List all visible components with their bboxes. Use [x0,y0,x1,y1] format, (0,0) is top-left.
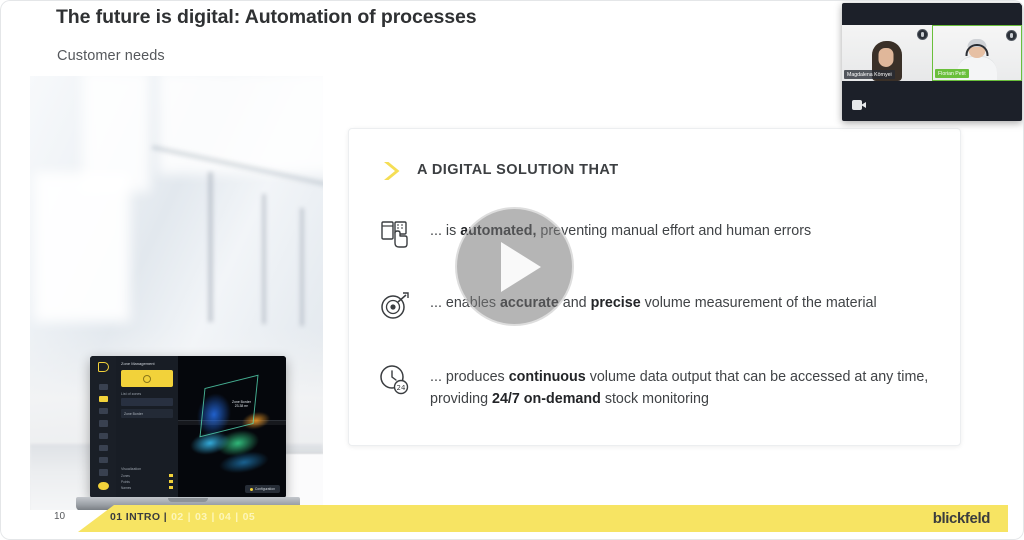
sidebar-icon [99,420,108,426]
window-mullion [300,208,304,326]
bullet-middle: preventing manual effort and human error… [536,223,811,239]
footer-section-nav: 01 INTRO | 02 | 03 | 04 | 05 [110,511,255,523]
app-legend-row: Zones [121,474,173,478]
window-pane [34,172,130,322]
video-controls-bar [842,89,1022,121]
sidebar-icon [99,408,108,414]
video-tile-participant-1[interactable]: Magdalena Környei [842,25,932,81]
app-configuration-button: Configuration [245,485,280,493]
bullet-suffix: volume measurement of the material [641,295,877,311]
svg-text:24: 24 [397,384,406,392]
app-legend-row: Points [121,480,173,484]
bullet-prefix: ... produces [430,369,509,385]
toggle-icon [169,486,173,489]
footer-section-active[interactable]: 01 INTRO | [110,511,167,523]
sidebar-icon [99,445,108,451]
blickfeld-logo: blickfeld [933,510,990,527]
mic-glyph [1010,33,1013,38]
sidebar-user-icon [98,482,109,491]
app-visualization-label: Visualization [121,467,173,471]
bullet-text: ... produces continuous volume data outp… [430,363,948,410]
app-zone-row-label: Zone Border [124,412,143,416]
laptop-screen: Zone Management List of zones Zone Borde… [90,356,286,498]
microphone-muted-icon [1006,30,1017,41]
footer-separator: | [235,511,238,523]
video-conference-panel[interactable]: Magdalena Környei Florian Petit [842,3,1022,121]
chevron-right-icon [378,157,406,185]
content-card: A DIGITAL SOLUTION THAT [348,128,961,446]
app-sidebar [90,356,116,498]
sidebar-icon [99,384,108,390]
footer-section-04[interactable]: 04 [219,511,231,523]
sidebar-icon [99,469,108,475]
plus-icon [143,375,151,383]
app-legend-label: Zones [121,474,130,478]
app-configuration-label: Configuration [255,487,275,491]
window-pane [158,76,323,174]
screen-root: The future is digital: Automation of pro… [0,0,1024,540]
page-number: 10 [54,511,65,522]
app-legend-label: Names [121,486,131,490]
bullet-bold: precise [591,295,641,311]
app-legend-row: Names [121,486,173,490]
app-visualization-block: Visualization Zones Points Names [121,467,173,492]
video-tile-strip: Magdalena Környei Florian Petit [842,25,1022,81]
slide-photo: Zone Management List of zones Zone Borde… [30,76,323,510]
clock-24h-icon: 24 [378,363,412,397]
window-mullion [208,172,213,322]
mic-glyph [921,32,924,37]
participant-name: Florian Petit [935,69,969,78]
zone-tag-volume: 23.38 m³ [232,404,251,408]
toggle-icon [169,480,173,483]
app-zone-panel: Zone Management List of zones Zone Borde… [116,356,178,498]
bullet-prefix: ... is [430,223,460,239]
page-title: The future is digital: Automation of pro… [56,6,476,29]
footer-section-05[interactable]: 05 [243,511,255,523]
list-item: 24 ... produces continuous volume data o… [378,363,948,410]
footer-edge-cap [1008,505,1024,532]
play-triangle [501,242,541,292]
app-zone-row: Zone Border [121,409,173,418]
pointcloud-zone-tag: Zone Border 23.38 m³ [232,400,251,408]
bullet-bold: continuous [509,369,586,385]
hand-click-automation-icon [378,217,412,251]
footer-separator: | [188,511,191,523]
bullet-suffix: stock monitoring [601,391,709,407]
toggle-icon [169,474,173,477]
participant-face [879,48,894,67]
app-add-zone-button [121,370,173,387]
sidebar-icon [99,433,108,439]
sidebar-icon [99,457,108,463]
sidebar-icon-active [99,396,108,402]
laptop-device: Zone Management List of zones Zone Borde… [76,356,300,510]
bullet-bold: 24/7 on-demand [492,391,601,407]
play-button-icon[interactable] [455,207,574,326]
window-mullion [262,194,266,324]
app-list-label: List of zones [121,392,173,396]
target-precision-icon [378,289,412,323]
footer-separator: | [211,511,214,523]
gear-icon [250,488,253,491]
footer-section-03[interactable]: 03 [195,511,207,523]
camera-icon[interactable] [852,100,866,110]
page-subtitle: Customer needs [57,48,165,64]
camera-lens [861,102,866,108]
laptop-hinge-notch [168,498,208,502]
app-panel-title: Zone Management [121,361,173,366]
app-legend-label: Points [121,480,130,484]
participant-name: Magdalena Környei [844,70,895,79]
microphone-muted-icon [917,29,928,40]
blickfeld-logo-icon [98,362,109,372]
card-heading: A DIGITAL SOLUTION THAT [417,162,619,178]
app-pointcloud-view: Zone Border 23.38 m³ Configuration [178,356,286,498]
footer-section-02[interactable]: 02 [171,511,183,523]
app-search-bar [121,398,173,406]
slide-footer: 10 01 INTRO | 02 | 03 | 04 | 05 blickfel… [0,505,1024,532]
video-tile-participant-2[interactable]: Florian Petit [932,25,1022,81]
